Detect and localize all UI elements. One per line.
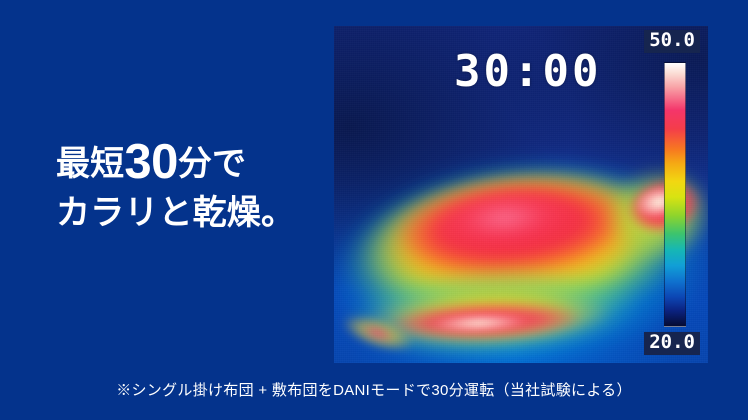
temperature-colorbar: [664, 62, 686, 327]
timer-readout: 30:00: [454, 46, 601, 97]
headline-line-2: カラリと乾燥。: [56, 196, 326, 230]
headline-prefix: 最短: [56, 145, 124, 183]
headline: 最短30分で カラリと乾燥。: [56, 138, 326, 230]
headline-line-1: 最短30分で: [56, 138, 326, 187]
scale-max-label: 50.0: [644, 30, 700, 53]
thermal-image-panel: 30:00 50.0 20.0: [334, 26, 708, 363]
headline-suffix: 分で: [178, 145, 246, 183]
footnote-caption: ※シングル掛け布団 + 敷布団をDANIモードで30分運転（当社試験による）: [0, 379, 748, 400]
scale-min-label: 20.0: [644, 332, 700, 355]
promo-banner: 最短30分で カラリと乾燥。 30:00 50.0 20.0 ※シングル掛け布団…: [0, 0, 748, 420]
headline-number: 30: [124, 135, 178, 189]
